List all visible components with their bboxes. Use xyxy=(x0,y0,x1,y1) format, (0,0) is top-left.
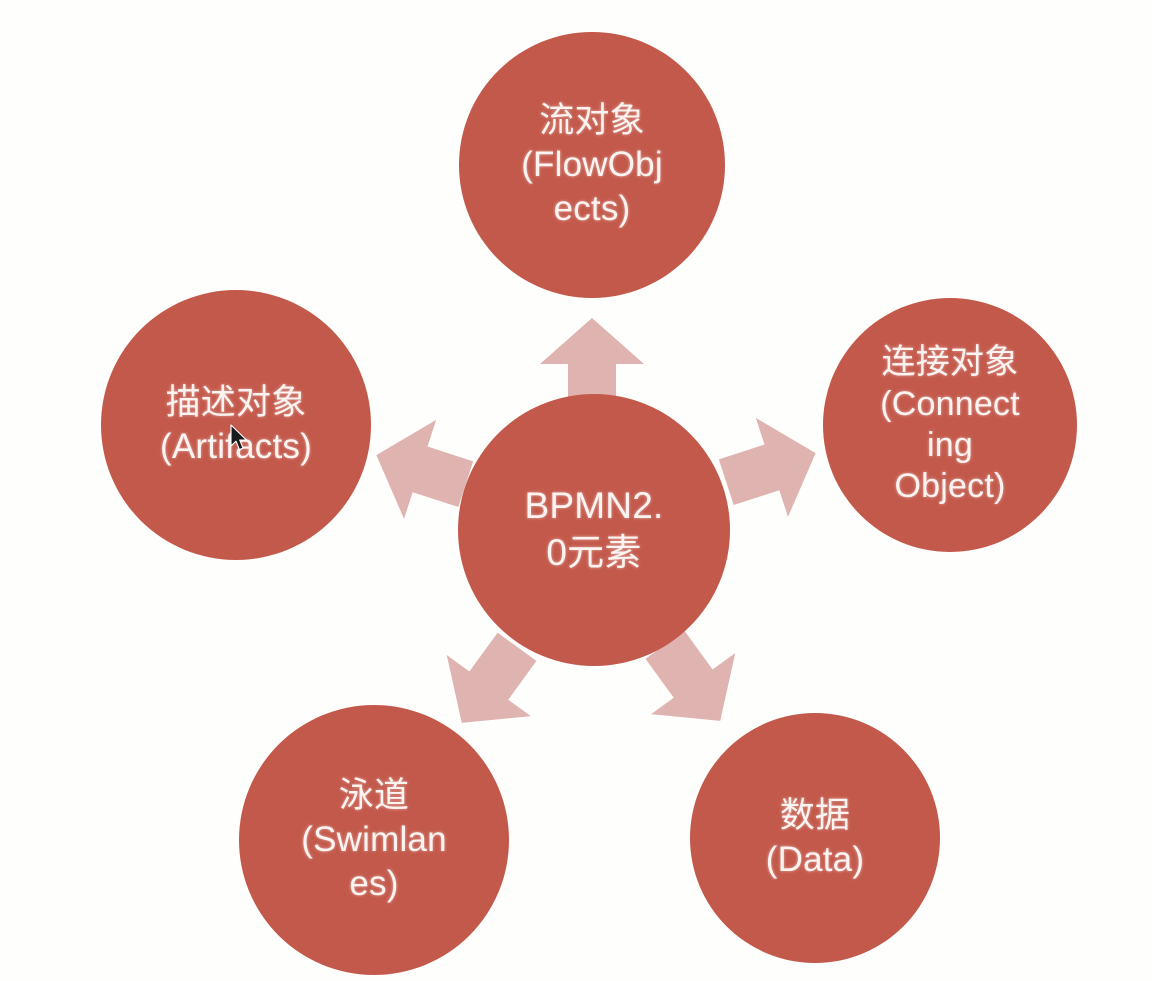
node-bpmn-core[interactable]: BPMN2. 0元素 xyxy=(458,394,730,666)
node-swimlanes[interactable]: 泳道 (Swimlan es) xyxy=(239,705,509,975)
node-flow-objects-label: 流对象 (FlowObj ects) xyxy=(515,99,669,231)
node-data[interactable]: 数据 (Data) xyxy=(690,713,940,963)
node-flow-objects[interactable]: 流对象 (FlowObj ects) xyxy=(459,32,725,298)
diagram-canvas: 流对象 (FlowObj ects) 连接对象 (Connect ing Obj… xyxy=(0,0,1152,981)
node-artifacts-label: 描述对象 (Artifacts) xyxy=(154,381,318,469)
node-data-label: 数据 (Data) xyxy=(760,794,870,882)
node-bpmn-core-label: BPMN2. 0元素 xyxy=(519,483,670,576)
node-connecting-object[interactable]: 连接对象 (Connect ing Object) xyxy=(823,298,1077,552)
node-connecting-object-label: 连接对象 (Connect ing Object) xyxy=(874,342,1026,508)
node-artifacts[interactable]: 描述对象 (Artifacts) xyxy=(101,290,371,560)
node-swimlanes-label: 泳道 (Swimlan es) xyxy=(295,774,453,906)
